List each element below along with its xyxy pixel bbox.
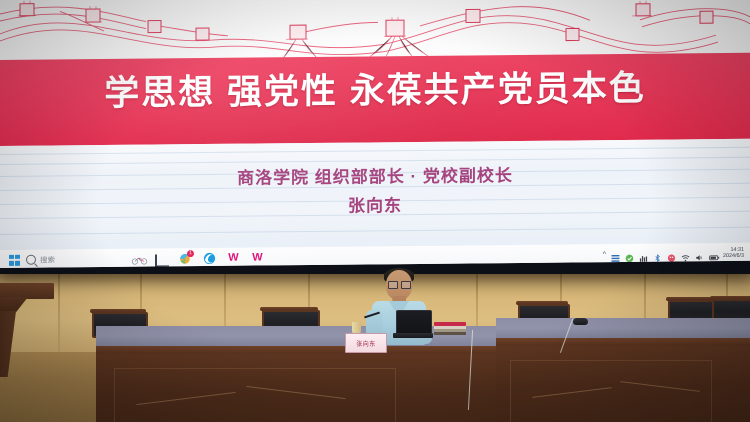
- chair: [668, 300, 712, 319]
- bike-icon[interactable]: [131, 252, 144, 265]
- conference-table-left: [96, 326, 516, 422]
- wps-office-icon[interactable]: W: [251, 251, 264, 264]
- start-button-icon[interactable]: [9, 254, 20, 265]
- equalizer-icon[interactable]: [639, 249, 648, 258]
- edge-icon[interactable]: [203, 251, 216, 264]
- wifi-icon[interactable]: [681, 249, 690, 258]
- glasses-icon: [388, 281, 410, 287]
- clock-date: 2024/6/3: [723, 253, 744, 259]
- security-icon[interactable]: [625, 249, 634, 258]
- wps-writer-icon[interactable]: W: [227, 251, 240, 264]
- notification-badge: 1: [187, 250, 194, 257]
- laptop: [396, 310, 430, 338]
- chair: [712, 299, 750, 318]
- input-method-icon[interactable]: [611, 250, 620, 259]
- bluetooth-icon[interactable]: [653, 249, 662, 258]
- projection-screen: 学思想 强党性 永葆共产党员本色 商洛学院 组织部部长 · 党校副校长 张向东: [0, 0, 750, 268]
- conference-table-right: [496, 318, 750, 422]
- presentation-slide: 学思想 强党性 永葆共产党员本色 商洛学院 组织部部长 · 党校副校长 张向东: [0, 0, 750, 252]
- volume-icon[interactable]: [695, 249, 704, 258]
- nameplate: 张向东: [345, 333, 387, 353]
- antivirus-icon[interactable]: [667, 249, 676, 258]
- search-placeholder: 搜索: [40, 254, 55, 265]
- show-hidden-icons-chevron[interactable]: ^: [603, 250, 606, 259]
- projection-screen-frame: 学思想 强党性 永葆共产党员本色 商洛学院 组织部部长 · 党校副校长 张向东: [0, 0, 750, 274]
- battery-icon[interactable]: [709, 249, 718, 258]
- mouse: [573, 318, 588, 325]
- file-explorer-icon[interactable]: [155, 252, 168, 265]
- search-input[interactable]: 搜索: [26, 254, 55, 265]
- lectern: [0, 283, 56, 383]
- slide-title: 学思想 强党性 永葆共产党员本色: [0, 65, 750, 118]
- messenger-icon[interactable]: 1: [179, 252, 192, 265]
- taskbar-clock[interactable]: 14:31 2024/6/3: [723, 247, 744, 259]
- screenshot-root: 学思想 强党性 永葆共产党员本色 商洛学院 组织部部长 · 党校副校长 张向东: [0, 0, 750, 422]
- search-icon: [26, 255, 36, 265]
- document-stack: [434, 322, 466, 334]
